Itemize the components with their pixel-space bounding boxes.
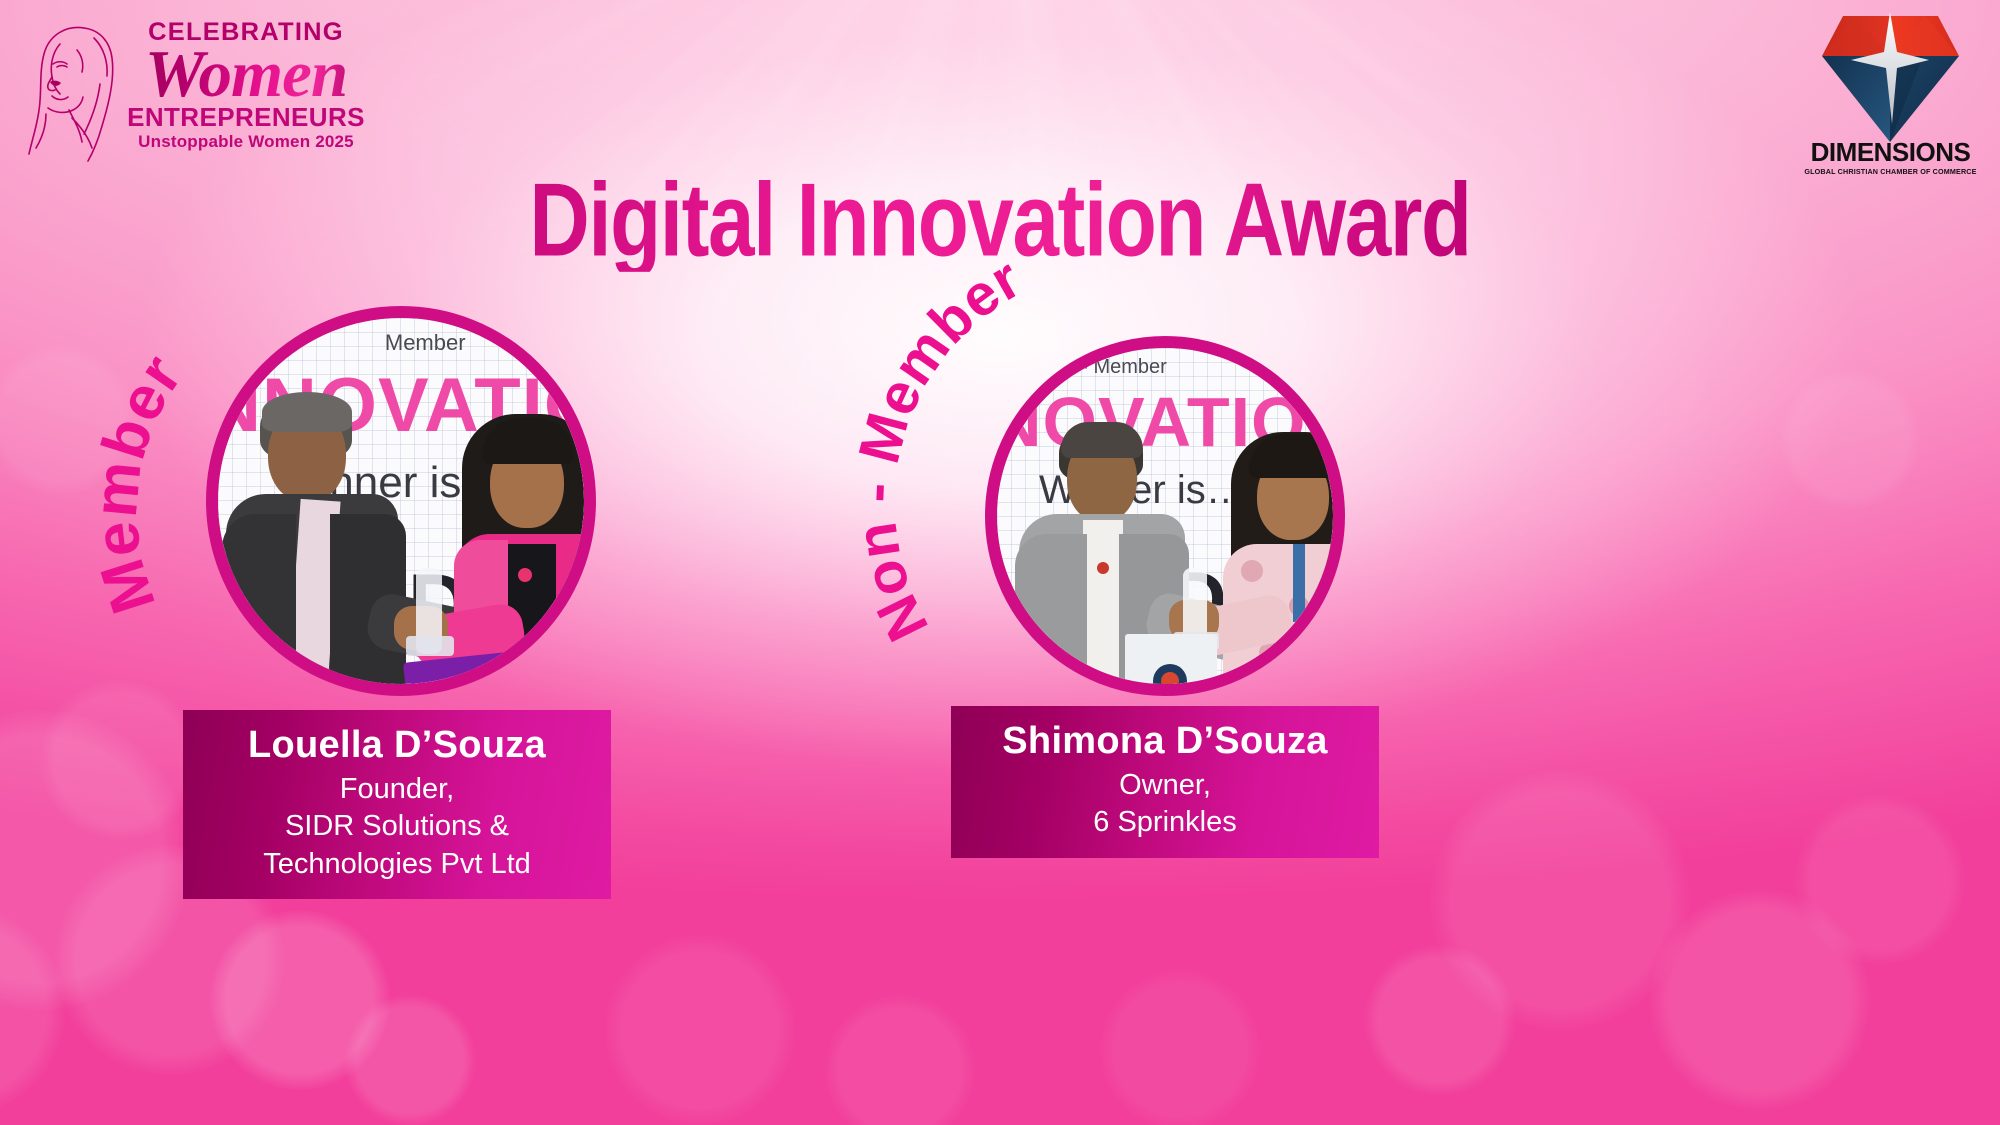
member-role: Founder,	[201, 771, 593, 808]
logo-tagline-text: Unstoppable Women 2025	[126, 130, 366, 155]
dimensions-name: DIMENSIONS	[1803, 139, 1978, 165]
diamond-cross-icon	[1813, 8, 1968, 148]
dimensions-logo: DIMENSIONS GLOBAL CHRISTIAN CHAMBER OF C…	[1803, 8, 1978, 183]
non-member-photo-ring: Non - Member NOVATION A Winner is…. n Ds	[985, 336, 1345, 696]
celebrating-women-logo: CELEBRATING Women ENTREPRENEURS Unstoppa…	[22, 14, 367, 162]
logo-entrepreneurs-text: ENTREPRENEURS	[126, 104, 366, 130]
logo-celebrating-text: CELEBRATING	[124, 20, 369, 45]
member-organization: SIDR Solutions & Technologies Pvt Ltd	[201, 808, 593, 882]
non-member-name-banner: Shimona D’Souza Owner, 6 Sprinkles	[951, 706, 1379, 858]
backdrop-member-text: Member	[385, 330, 466, 356]
non-member-role: Owner,	[969, 767, 1361, 804]
member-name: Louella D’Souza	[201, 720, 593, 771]
non-member-organization: 6 Sprinkles	[969, 804, 1361, 841]
non-member-name: Shimona D’Souza	[969, 716, 1361, 767]
member-photo-ring: Member INNOVATION A Winner is… a Di	[206, 306, 596, 696]
non-member-photo: Non - Member NOVATION A Winner is…. n Ds	[997, 348, 1333, 684]
member-photo: Member INNOVATION A Winner is… a Di	[218, 318, 584, 684]
backdrop-non-member-text: Non - Member	[1039, 356, 1167, 379]
member-name-banner: Louella D’Souza Founder, SIDR Solutions …	[183, 710, 611, 899]
woman-profile-icon	[22, 14, 134, 162]
logo-women-text: Women	[126, 42, 366, 108]
